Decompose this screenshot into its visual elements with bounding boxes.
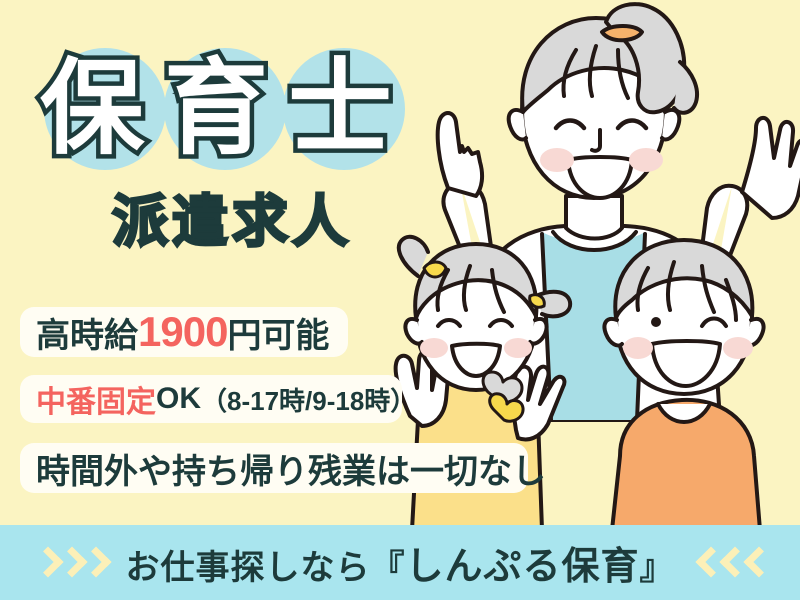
bottom-banner: お仕事探しなら『しんぷる保育』 [0,525,800,600]
pill-hourly-wage-lead: 高時給 [36,308,138,357]
chevron-left-group [697,547,765,579]
chevron-right-icon [59,547,79,579]
chevron-left-icon [745,547,765,579]
page-title: 保育士 [40,44,460,174]
banner-text-prefix: お仕事探しなら『 [125,549,405,587]
page-subtitle: 派遣求人 [112,194,352,250]
banner-text: お仕事探しなら『しんぷる保育』 [125,535,674,590]
pill-hourly-wage-amount: 1900 [138,308,227,356]
chevron-right-icon [83,547,103,579]
pill-hourly-wage: 高時給1900円可能 [20,307,348,357]
pill-shift-fixed-ok: OK [156,382,201,416]
pill-shift-fixed-hours: （8-17時/9-18時） [201,381,416,418]
poster-root: 保育士 派遣求人 高時給1900円可能 中番固定OK（8-17時/9-18時） … [0,0,800,600]
pill-shift-fixed: 中番固定OK（8-17時/9-18時） [20,375,402,423]
pill-hourly-wage-tail: 円可能 [227,308,329,357]
chevron-left-icon [697,547,717,579]
pill-no-overtime: 時間外や持ち帰り残業は一切なし [20,443,528,493]
chevron-left-icon [721,547,741,579]
banner-brand-name: しんぷる保育 [405,546,639,588]
pill-shift-fixed-lead: 中番固定 [36,377,156,421]
chevron-right-group [35,547,103,579]
banner-text-suffix: 』 [640,549,675,587]
pill-no-overtime-text: 時間外や持ち帰り残業は一切なし [36,444,546,493]
chevron-right-icon [35,547,55,579]
